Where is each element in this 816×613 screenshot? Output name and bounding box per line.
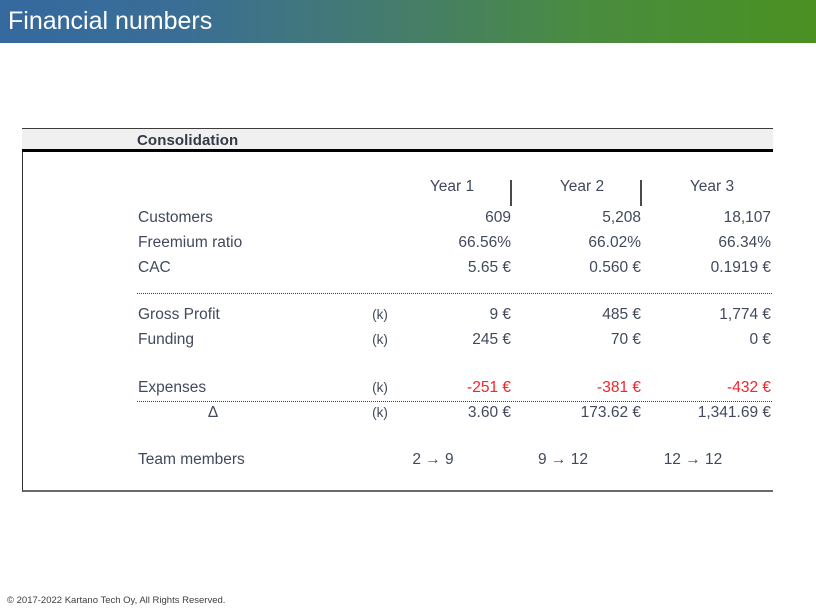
row-label: Team members <box>138 451 245 469</box>
table-row: Customers 609 5,208 18,107 <box>23 207 772 232</box>
row-label: Expenses <box>138 379 206 397</box>
row-value-year3: 12 → 12 <box>623 451 763 469</box>
row-label: Funding <box>138 331 194 349</box>
table-row: Team members 2 → 9 9 → 12 12 → 12 <box>23 449 772 474</box>
column-header-year2: Year 2 <box>523 178 641 196</box>
row-label: Customers <box>138 209 213 227</box>
column-header-year1: Year 1 <box>393 178 511 196</box>
row-label: Freemium ratio <box>138 234 242 252</box>
table-row: CAC 5.65 € 0.560 € 0.1919 € <box>23 257 772 282</box>
table-row: Δ (k) 3.60 € 173.62 € 1,341.69 € <box>23 402 772 427</box>
row-value-year3: 0.1919 € <box>613 259 771 277</box>
table-row: Expenses (k) -251 € -381 € -432 € <box>23 377 772 402</box>
table-body: Year 1 Year 2 Year 3 Customers 609 5,208… <box>22 152 773 492</box>
row-value-year3: -432 € <box>613 379 771 397</box>
column-separator-1 <box>510 180 512 206</box>
row-value-year3: 18,107 <box>613 209 771 227</box>
row-label: Gross Profit <box>138 306 220 324</box>
column-separator-2 <box>640 180 642 206</box>
row-label: CAC <box>138 259 171 277</box>
row-value-year1: 2 → 9 <box>363 451 503 469</box>
row-value-year3: 66.34% <box>613 234 771 252</box>
table-caption-band: Consolidation <box>22 128 773 152</box>
copyright-footer: © 2017-2022 Kartano Tech Oy, All Rights … <box>7 595 225 606</box>
row-value-year3: 1,341.69 € <box>613 404 771 422</box>
page-title: Financial numbers <box>8 6 212 37</box>
table-row: Gross Profit (k) 9 € 485 € 1,774 € <box>23 304 772 329</box>
financials-table: Consolidation Year 1 Year 2 Year 3 Custo… <box>22 128 773 492</box>
row-divider-dotted <box>137 293 772 294</box>
column-header-year3: Year 3 <box>653 178 771 196</box>
table-caption: Consolidation <box>137 132 238 149</box>
row-value-year3: 1,774 € <box>613 306 771 324</box>
row-label: Δ <box>138 404 288 422</box>
row-value-year2: 9 → 12 <box>493 451 633 469</box>
row-value-year3: 0 € <box>613 331 771 349</box>
table-row: Funding (k) 245 € 70 € 0 € <box>23 329 772 354</box>
table-row: Freemium ratio 66.56% 66.02% 66.34% <box>23 232 772 257</box>
slide-title-banner: Financial numbers <box>0 0 816 43</box>
